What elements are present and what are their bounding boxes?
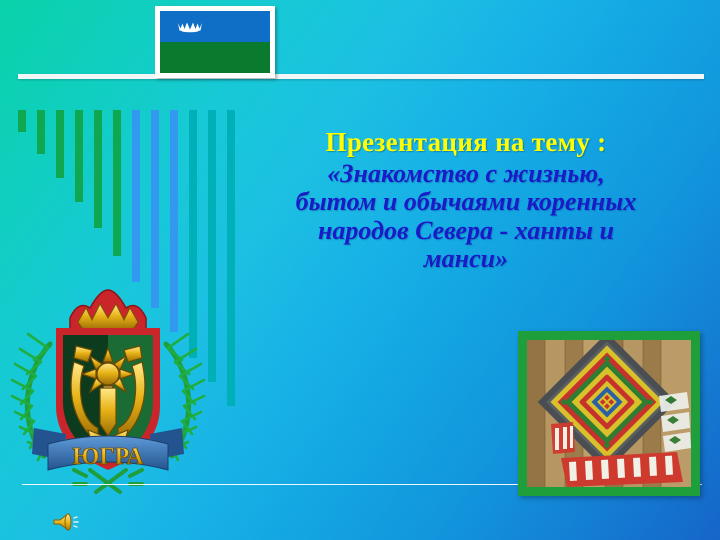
flag-khmao-frame (155, 6, 275, 78)
top-divider-rule (18, 74, 704, 79)
photo-khanty-rug (527, 340, 691, 487)
decor-bar-4 (75, 110, 83, 202)
crown-ornament-icon (177, 21, 203, 33)
decor-bar-12 (227, 110, 235, 406)
ribbon-text: ЮГРА (72, 444, 144, 470)
title-block: Презентация на тему : «Знакомство с жизн… (236, 128, 696, 274)
title-line-1: Презентация на тему : (236, 128, 696, 158)
beaded-strip (561, 452, 683, 487)
title-body: «Знакомство с жизнью, бытом и обычаями к… (236, 160, 696, 274)
beaded-item-left (551, 422, 575, 454)
decor-bar-6 (113, 110, 121, 256)
photo-card (518, 331, 700, 496)
title-body-line-1: «Знакомство с жизнью, (236, 160, 696, 189)
title-body-line-3: народов Севера - ханты и (236, 217, 696, 246)
decor-bar-3 (56, 110, 64, 178)
title-body-line-4: манси» (236, 245, 696, 274)
decor-bar-2 (37, 110, 45, 154)
crown (70, 290, 146, 331)
decor-bar-1 (18, 110, 26, 132)
title-body-line-2: бытом и обычаями коренных (236, 188, 696, 217)
presentation-slide: Презентация на тему : «Знакомство с жизн… (0, 0, 720, 540)
sound-icon[interactable] (52, 511, 84, 533)
decor-bar-7 (132, 110, 140, 282)
flag-khmao-icon (160, 11, 270, 73)
coat-of-arms-yugra: ЮГРА (8, 278, 208, 498)
flag-green-band (160, 42, 270, 73)
crossed-stems (74, 470, 142, 492)
decor-bar-5 (94, 110, 102, 228)
decor-bar-11 (208, 110, 216, 382)
